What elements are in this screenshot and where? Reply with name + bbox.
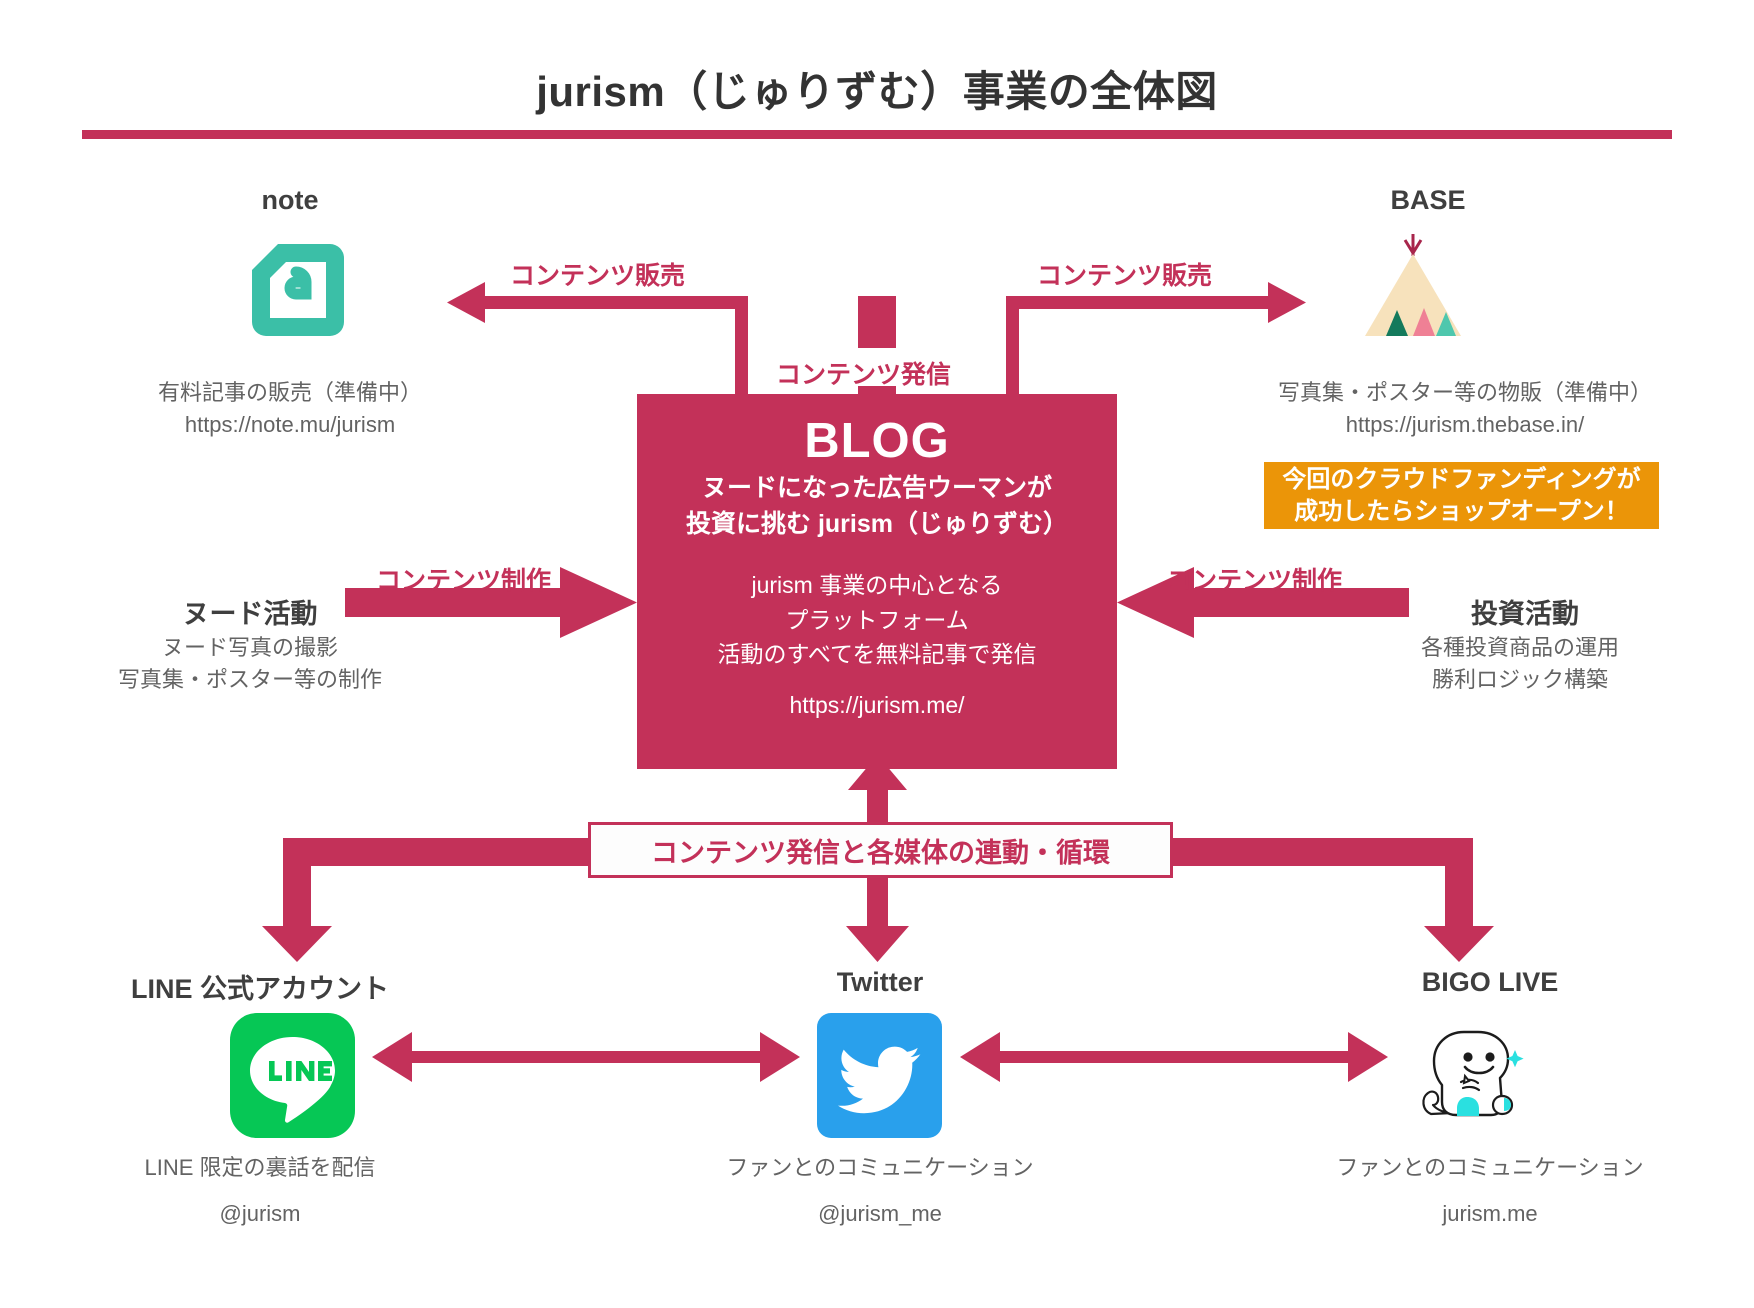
arrow-line-twitter bbox=[372, 1032, 800, 1082]
arrow-label-content-sale-base: コンテンツ販売 bbox=[1037, 256, 1212, 292]
blog-name: BLOG bbox=[804, 416, 950, 467]
blog-description-line3: 活動のすべてを無料記事で発信 bbox=[717, 637, 1036, 672]
twitter-bird-icon[interactable] bbox=[817, 1013, 942, 1138]
blog-center-card[interactable]: BLOG ヌードになった広告ウーマンが 投資に挑む jurism（じゅりずむ） … bbox=[637, 394, 1117, 769]
blog-url[interactable]: https://jurism.me/ bbox=[789, 692, 964, 719]
arrow-label-content-sale-note: コンテンツ販売 bbox=[510, 256, 685, 292]
blog-subtitle-line2: 投資に挑む jurism（じゅりずむ） bbox=[686, 507, 1068, 543]
circulation-label-box: コンテンツ発信と各媒体の連動・循環 bbox=[588, 822, 1173, 878]
arrow-label-content-publish: コンテンツ発信 bbox=[776, 355, 951, 391]
blog-subtitle: ヌードになった広告ウーマンが 投資に挑む jurism（じゅりずむ） bbox=[686, 471, 1068, 542]
arrow-hub-to-twitter bbox=[846, 866, 909, 962]
blog-description-line1: jurism 事業の中心となる bbox=[717, 568, 1036, 603]
arrow-blog-to-note bbox=[447, 282, 748, 394]
line-icon[interactable] bbox=[230, 1013, 355, 1138]
arrow-blog-to-base bbox=[1006, 282, 1306, 394]
arrow-label-content-production-left: コンテンツ制作 bbox=[376, 561, 551, 597]
arrow-twitter-bigo bbox=[960, 1032, 1388, 1082]
blog-description: jurism 事業の中心となる プラットフォーム 活動のすべてを無料記事で発信 bbox=[717, 568, 1036, 672]
blog-subtitle-line1: ヌードになった広告ウーマンが bbox=[686, 471, 1068, 507]
arrow-label-content-production-right: コンテンツ制作 bbox=[1167, 561, 1342, 597]
bigo-dinosaur-icon[interactable] bbox=[1405, 1010, 1535, 1140]
blog-description-line2: プラットフォーム bbox=[717, 603, 1036, 638]
